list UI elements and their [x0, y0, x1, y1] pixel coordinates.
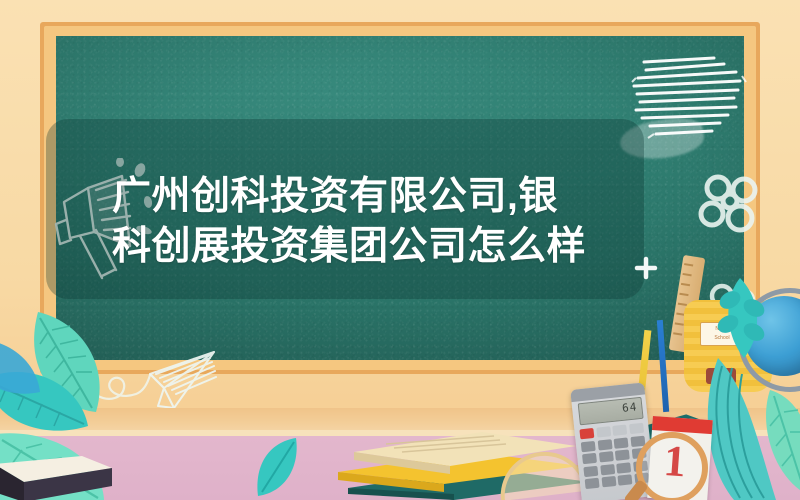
notebook-spiral-band	[652, 416, 713, 434]
poster-canvas: 广州创科投资有限公司,银 科创展投资集团公司怎么样	[0, 0, 800, 500]
page-title: 广州创科投资有限公司,银 科创展投资集团公司怎么样	[112, 172, 672, 272]
book-dark-left	[0, 452, 114, 500]
calculator-key-11[interactable]	[615, 449, 630, 460]
calculator-key-4[interactable]	[629, 423, 644, 434]
calculator-key-19[interactable]	[618, 474, 633, 485]
plants-right	[700, 270, 800, 500]
calculator-key-3[interactable]	[612, 424, 627, 435]
calculator-key-18[interactable]	[601, 476, 616, 487]
headline-line-1: 广州创科投资有限公司,银	[112, 175, 558, 218]
calculator-key-6[interactable]	[597, 439, 612, 450]
calculator-key-17[interactable]	[585, 478, 600, 489]
headline-line-2: 科创展投资集团公司怎么样	[112, 225, 586, 268]
magnifier-icon	[636, 432, 708, 500]
calculator-key-2[interactable]	[596, 426, 611, 437]
calculator-display-value: 64	[621, 400, 638, 415]
calculator-key-14[interactable]	[600, 464, 615, 475]
calculator-key-ac[interactable]	[579, 428, 594, 439]
leaf-sprig-desk	[252, 436, 322, 500]
calculator-key-7[interactable]	[614, 437, 629, 448]
calculator-key-9[interactable]	[582, 453, 597, 464]
calculator-key-10[interactable]	[599, 451, 614, 462]
calculator-key-15[interactable]	[616, 462, 631, 473]
calculator-key-5[interactable]	[581, 440, 596, 451]
calculator-screen: 64	[578, 397, 644, 426]
calculator-key-13[interactable]	[583, 465, 598, 476]
flower-large-icon	[694, 168, 768, 240]
